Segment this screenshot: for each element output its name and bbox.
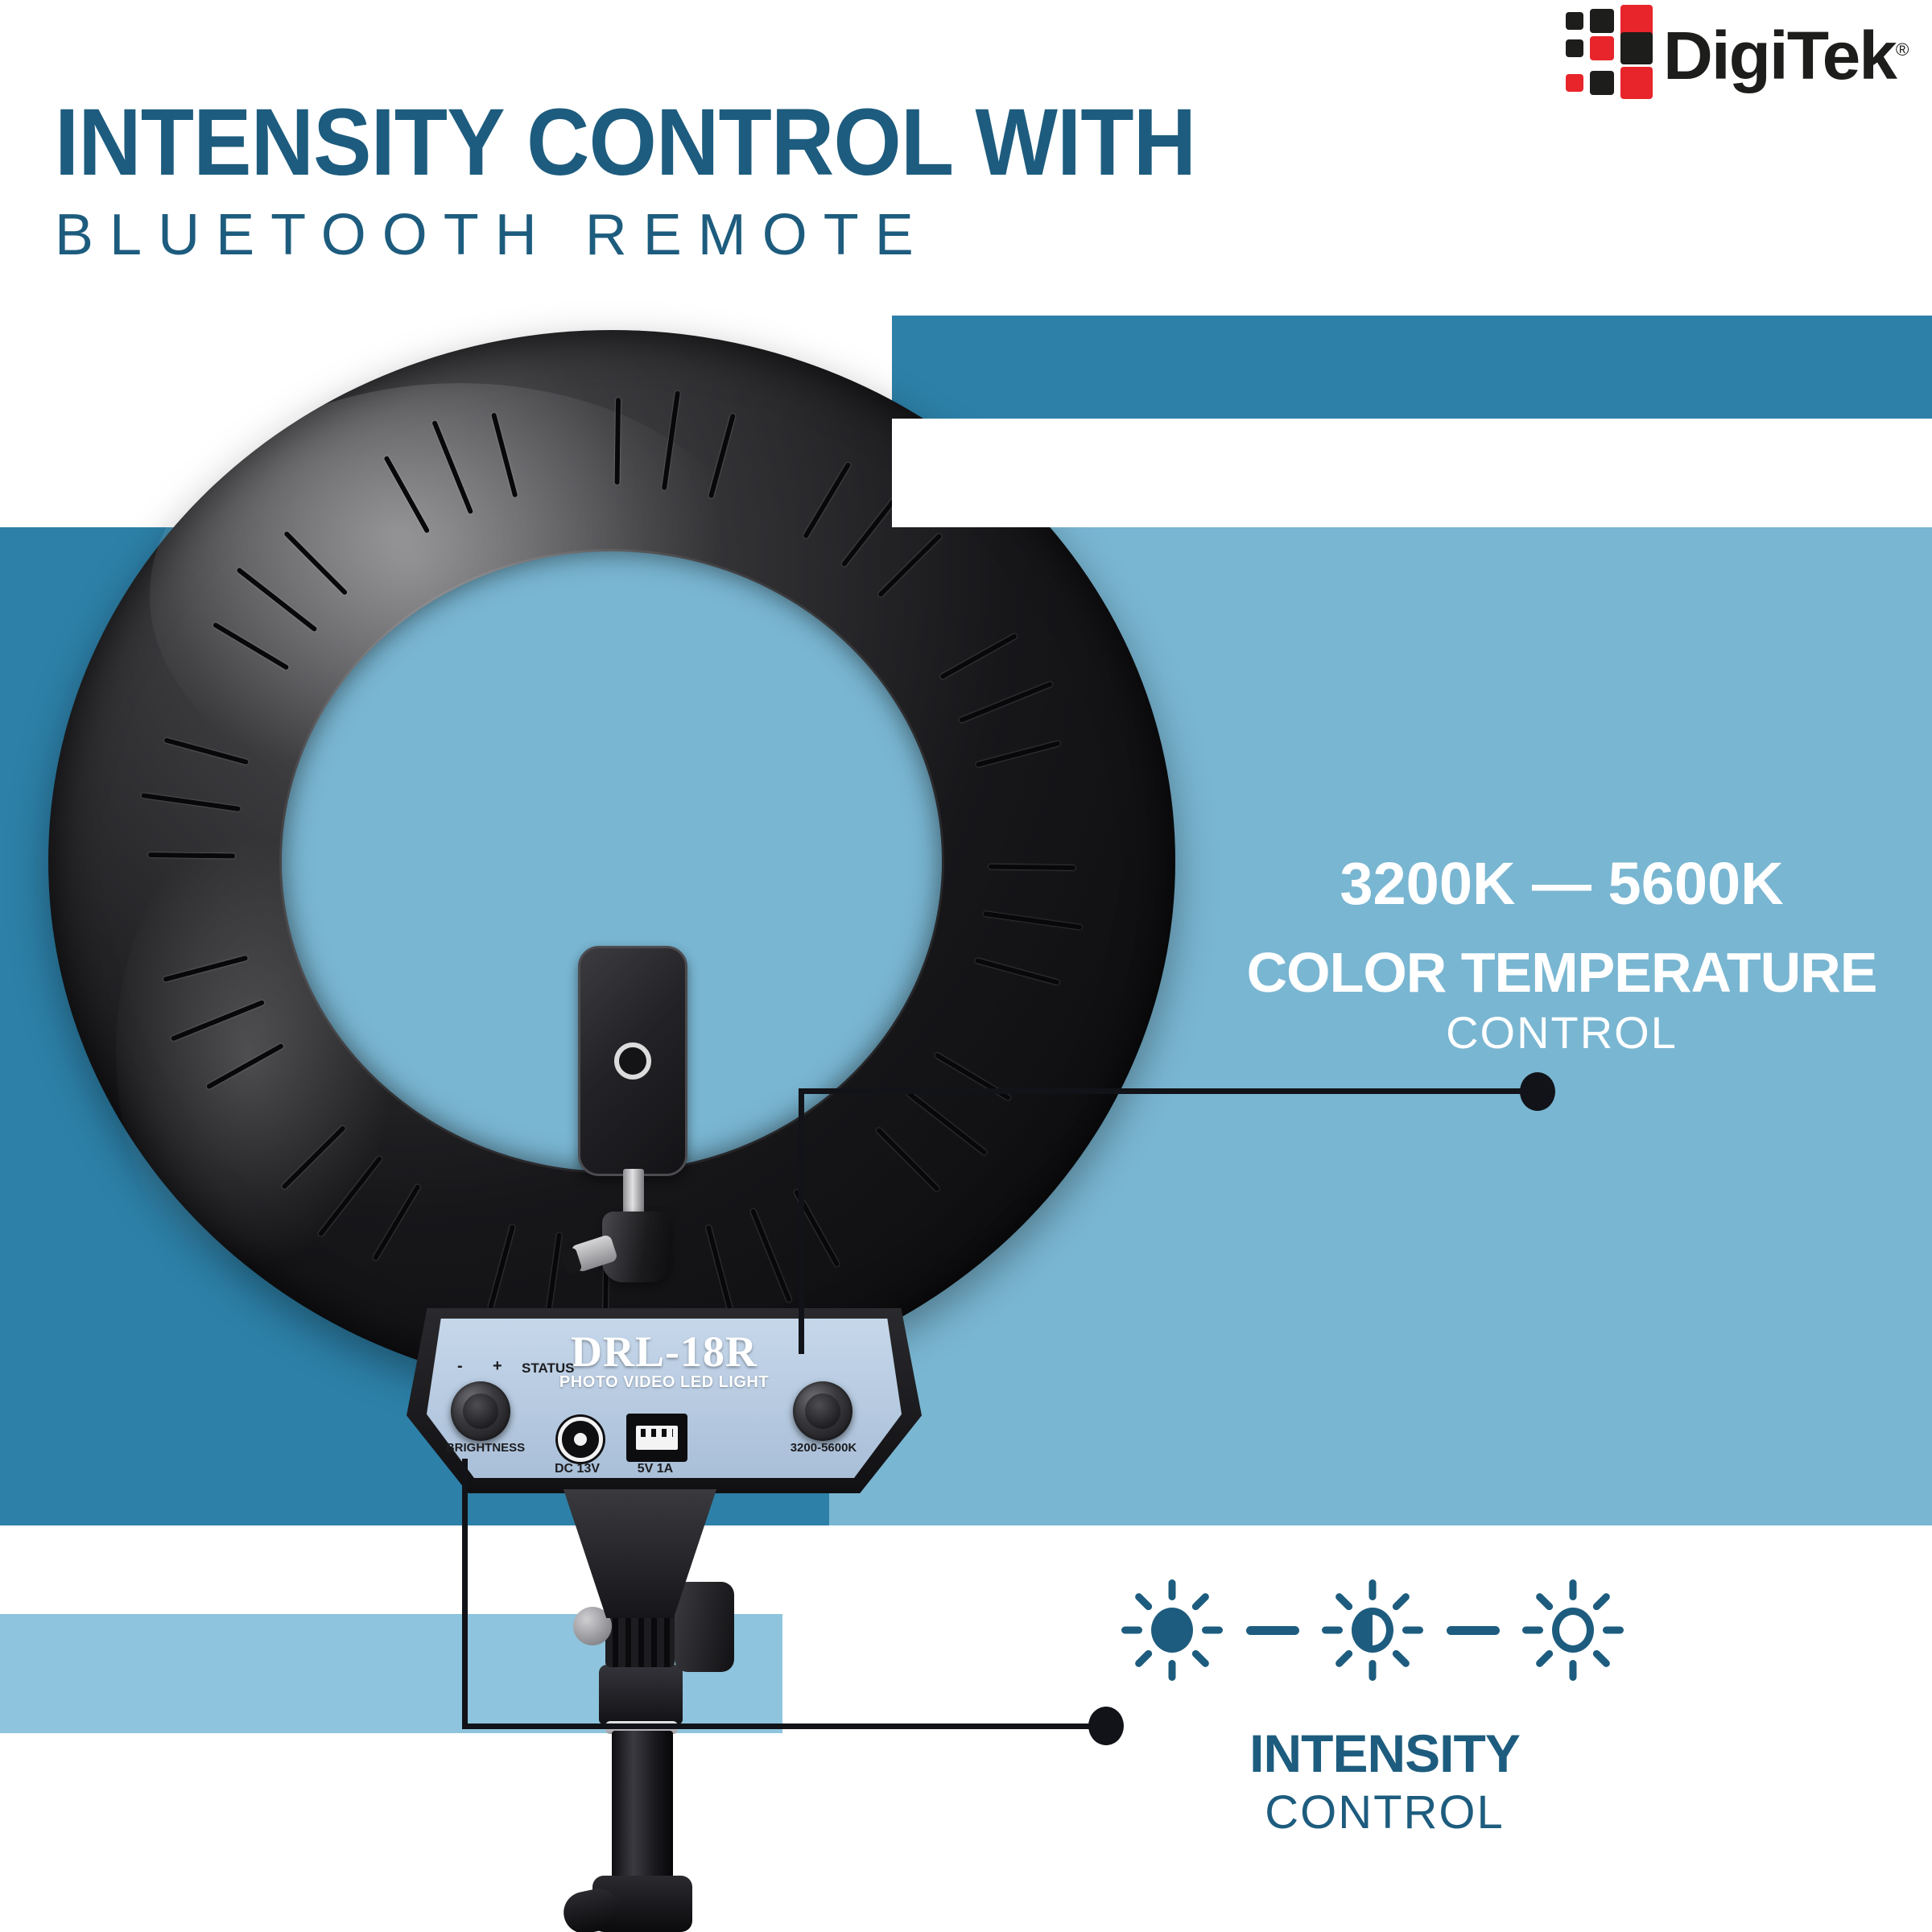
ring-vent-slot	[171, 1000, 265, 1042]
sun-ray	[1334, 1591, 1354, 1612]
ring-vent-slot	[383, 456, 430, 534]
panel-minus-label: -	[457, 1357, 463, 1376]
sun-ray	[1133, 1591, 1154, 1612]
phone-holder	[578, 946, 687, 1176]
usb-port-label: 5V 1A	[618, 1462, 692, 1476]
ring-vent-slot	[989, 865, 1075, 871]
ring-vent-slot	[283, 530, 348, 596]
ring-vent-slot	[615, 398, 621, 485]
logo-square-2-1	[1590, 71, 1614, 95]
sun-ray	[1534, 1649, 1554, 1669]
logo-square-0-0	[1566, 12, 1583, 30]
dc-power-jack-icon	[558, 1417, 603, 1462]
color-temperature-range: 3200K — 5600K	[1191, 849, 1932, 918]
page-title: INTENSITY CONTROL WITH BLUETOOTH REMOTE	[55, 95, 1423, 264]
sun-ray	[1391, 1591, 1411, 1612]
sun-filled-icon	[1119, 1577, 1225, 1683]
panel-plus-label: +	[493, 1357, 502, 1376]
white-gap-upper	[0, 1525, 1932, 1614]
ring-vent-slot	[236, 567, 317, 632]
ring-vent-slot	[708, 413, 736, 498]
phone-holder-post	[623, 1169, 644, 1216]
ring-vent-slot	[491, 412, 518, 497]
usb-port-icon	[626, 1414, 687, 1462]
ring-vent-slot	[876, 1127, 940, 1192]
brand-logo: DigiTek®	[1566, 11, 1905, 100]
color-temp-leader-dot	[1520, 1072, 1555, 1111]
sun-ray	[1369, 1579, 1377, 1600]
sun-ray	[1334, 1649, 1354, 1669]
intensity-title: INTENSITY	[1103, 1723, 1666, 1784]
sun-ray	[1169, 1660, 1176, 1681]
brightness-knob-label: BRIGHTNESS	[441, 1441, 530, 1455]
headline-line-2: BLUETOOTH REMOTE	[55, 206, 1423, 264]
logo-grid-icon	[1566, 12, 1653, 99]
ring-vent-slot	[431, 420, 473, 514]
ring-vent-slot	[939, 633, 1018, 679]
sun-ray	[1522, 1627, 1543, 1634]
color-temp-leader-horizontal	[799, 1088, 1535, 1094]
ring-vent-slot	[983, 911, 1083, 930]
tilt-lock-knob-front[interactable]	[675, 1582, 734, 1672]
logo-square-1-0	[1566, 39, 1583, 57]
sun-ray	[1121, 1627, 1142, 1634]
intensity-dash-1	[1246, 1626, 1299, 1635]
sun-ray	[1322, 1627, 1343, 1634]
sun-ray	[1591, 1591, 1612, 1612]
intensity-leader-vertical	[462, 1459, 468, 1729]
sun-ray	[1591, 1649, 1612, 1669]
sun-ray	[1570, 1660, 1577, 1681]
ring-vent-slot	[488, 1224, 515, 1310]
sun-ray	[1603, 1627, 1624, 1634]
logo-square-1-1	[1590, 36, 1614, 60]
ring-vent-slot	[372, 1183, 420, 1261]
logo-square-2-2	[1620, 67, 1653, 99]
color-temperature-callout: 3200K — 5600K COLOR TEMPERATURE CONTROL	[1191, 849, 1932, 1059]
headline-line-1: INTENSITY CONTROL WITH	[55, 95, 1314, 190]
sun-ray	[1191, 1591, 1211, 1612]
stand-collar	[599, 1665, 683, 1724]
ring-vent-slot	[906, 1091, 987, 1156]
ring-vent-slot	[141, 793, 241, 811]
sun-ray	[1402, 1627, 1423, 1634]
color-temperature-knob-label: 3200-5600K	[774, 1441, 873, 1455]
ring-vent-slot	[750, 1208, 792, 1302]
ring-vent-slot	[213, 621, 290, 670]
logo-wordmark-text: DigiTek	[1663, 18, 1896, 93]
sun-ray	[1570, 1579, 1577, 1600]
color-temperature-title: COLOR TEMPERATURE	[1191, 940, 1932, 1005]
intensity-callout: INTENSITY CONTROL	[1103, 1723, 1666, 1839]
sun-ray	[1369, 1660, 1377, 1681]
ring-vent-slot	[975, 958, 1060, 985]
ring-vent-slot	[877, 533, 943, 597]
intensity-dash-2	[1447, 1626, 1500, 1635]
ring-vent-slot	[976, 741, 1061, 767]
logo-square-1-2	[1620, 32, 1653, 64]
sun-outline-icon	[1520, 1577, 1626, 1683]
phone-holder-screw-hole	[614, 1042, 651, 1080]
ring-vent-slot	[148, 852, 235, 859]
sun-ray	[1391, 1649, 1411, 1669]
ring-vent-slot	[163, 737, 249, 765]
white-space-below-band	[892, 419, 1932, 527]
color-temp-leader-vertical	[799, 1088, 804, 1354]
logo-registered-mark: ®	[1895, 39, 1907, 60]
logo-square-0-1	[1590, 9, 1614, 33]
sun-ray	[1133, 1649, 1154, 1669]
ring-vent-slot	[206, 1043, 284, 1090]
logo-square-2-0	[1566, 74, 1583, 92]
intensity-subtitle: CONTROL	[1103, 1785, 1666, 1839]
sun-ray	[1202, 1627, 1223, 1634]
brightness-knob[interactable]	[451, 1381, 510, 1441]
color-temperature-subtitle: CONTROL	[1191, 1006, 1932, 1059]
panel-status-label: STATUS	[522, 1360, 574, 1377]
ring-vent-slot	[959, 681, 1053, 723]
sun-ray	[1169, 1579, 1176, 1600]
dc-power-label: DC 13V	[538, 1462, 617, 1476]
intensity-leader-horizontal	[462, 1724, 1106, 1729]
color-temperature-knob[interactable]	[793, 1381, 852, 1441]
product-feature-banner: DRL-18R PHOTO VIDEO LED LIGHT - + STATUS…	[0, 0, 1932, 1932]
ring-vent-slot	[317, 1155, 382, 1236]
sun-ray	[1191, 1649, 1211, 1669]
sun-half-icon	[1319, 1577, 1426, 1683]
ring-vent-slot	[803, 462, 851, 539]
ring-vent-slot	[706, 1225, 733, 1311]
ring-vent-slot	[662, 390, 680, 490]
ring-vent-slot	[281, 1125, 346, 1190]
logo-wordmark: DigiTek®	[1663, 17, 1907, 95]
sun-ray	[1534, 1591, 1554, 1612]
intensity-icon-row	[1119, 1570, 1626, 1690]
ring-vent-slot	[163, 956, 248, 982]
